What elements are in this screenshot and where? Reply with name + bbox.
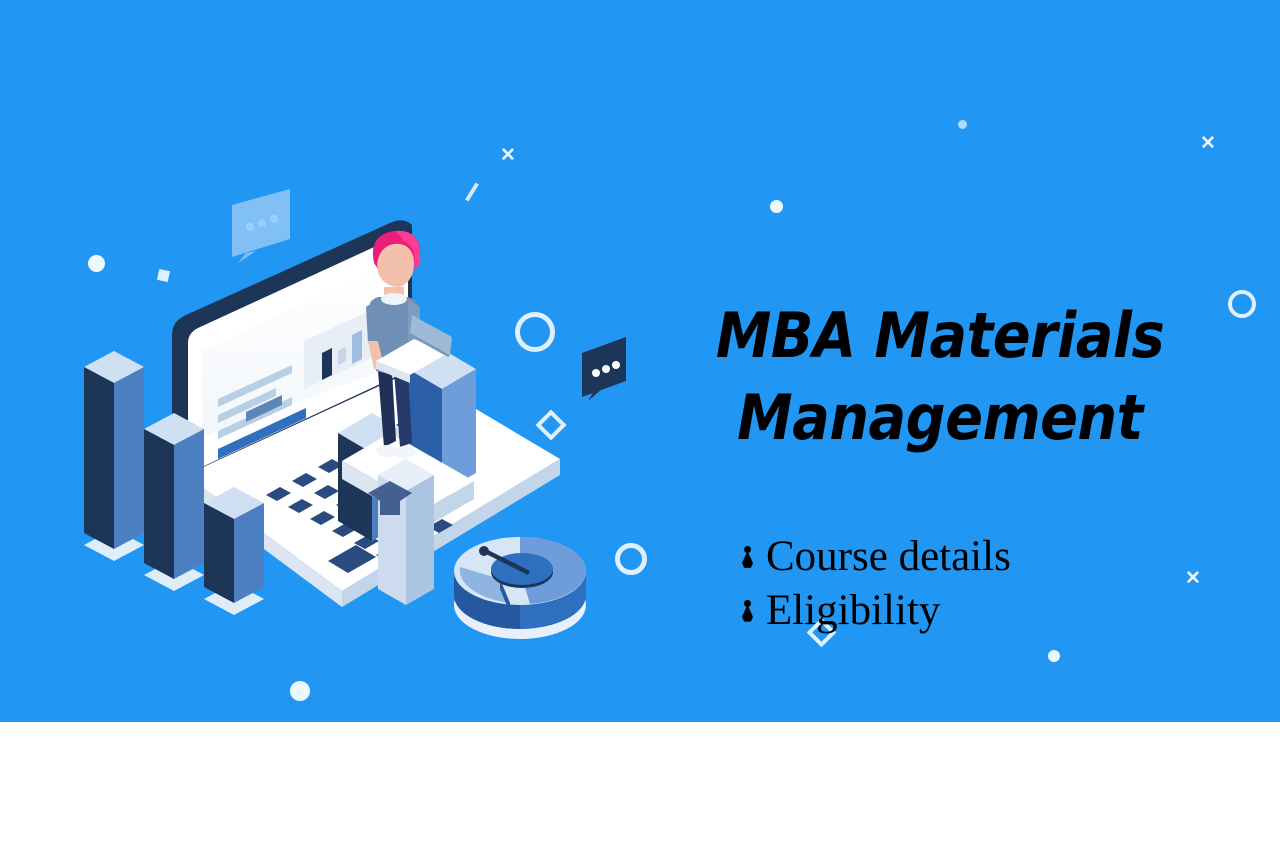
page-title: MBA Materials Management	[660, 295, 1220, 460]
list-item: Course details	[740, 530, 1200, 584]
feature-list: Course details Eligibility	[740, 530, 1200, 638]
dot-icon	[958, 120, 967, 129]
tie-bullet-icon	[740, 594, 756, 628]
dot-icon	[1048, 650, 1060, 662]
list-item: Eligibility	[740, 584, 1200, 638]
footer-section: SPIMS SREE PASHMI INSTITUTE OF MANAGEMEN…	[0, 722, 1280, 853]
headline-line-2: Management	[660, 377, 1220, 459]
promotional-poster: ✕ ✕ ✕	[0, 0, 1280, 853]
x-mark-icon: ✕	[1200, 134, 1216, 153]
x-mark-icon: ✕	[500, 146, 516, 165]
ring-icon	[1228, 290, 1256, 318]
tie-bullet-icon	[740, 540, 756, 574]
headline-line-1: MBA Materials	[660, 295, 1220, 377]
isometric-analytics-illustration	[60, 175, 680, 715]
list-item-label: Eligibility	[766, 584, 940, 638]
list-item-label: Course details	[766, 530, 1011, 584]
hero-section: ✕ ✕ ✕	[0, 0, 1280, 722]
dot-icon	[770, 200, 783, 213]
